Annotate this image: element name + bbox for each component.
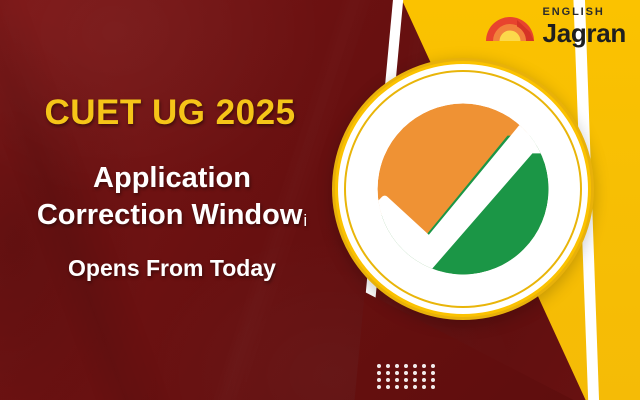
dot: [377, 378, 381, 382]
sunrise-arc-icon: [484, 10, 536, 44]
dot: [404, 385, 408, 389]
subheading-line-2: Correction Window: [37, 199, 303, 231]
dot: [377, 385, 381, 389]
dot: [395, 364, 399, 368]
dot: [395, 371, 399, 375]
subheading-line-2-wrapper: Correction Windowi: [0, 197, 344, 234]
dot: [386, 385, 390, 389]
dot: [422, 385, 426, 389]
dot: [404, 364, 408, 368]
subheading: Application Correction Windowi: [0, 160, 344, 234]
page-title: CUET UG 2025: [0, 93, 340, 133]
brand-logo[interactable]: ENGLISH Jagran: [484, 7, 626, 46]
dot: [431, 364, 435, 368]
subheading-trailing-glyph: i: [303, 211, 307, 230]
brand-wordmark: ENGLISH Jagran: [543, 7, 626, 46]
dot: [395, 385, 399, 389]
dot: [386, 364, 390, 368]
decorative-dot-grid: [377, 364, 440, 392]
dot: [422, 371, 426, 375]
dot: [413, 371, 417, 375]
nta-checkmark-logo: [374, 100, 552, 278]
dot: [395, 378, 399, 382]
promo-banner: CUET UG 2025 Application Correction Wind…: [0, 0, 640, 400]
dot: [431, 385, 435, 389]
dot: [422, 364, 426, 368]
dot: [377, 371, 381, 375]
dot: [386, 371, 390, 375]
dot: [413, 378, 417, 382]
dot: [386, 378, 390, 382]
dot: [431, 378, 435, 382]
brand-line-english: ENGLISH: [543, 7, 605, 18]
dot: [413, 385, 417, 389]
dot: [431, 371, 435, 375]
tagline: Opens From Today: [0, 255, 344, 282]
dot: [413, 364, 417, 368]
dot: [377, 364, 381, 368]
dot: [422, 378, 426, 382]
brand-line-jagran: Jagran: [543, 20, 626, 46]
dot: [404, 371, 408, 375]
emblem-container: [332, 58, 594, 320]
dot: [404, 378, 408, 382]
subheading-line-1: Application: [0, 160, 344, 197]
